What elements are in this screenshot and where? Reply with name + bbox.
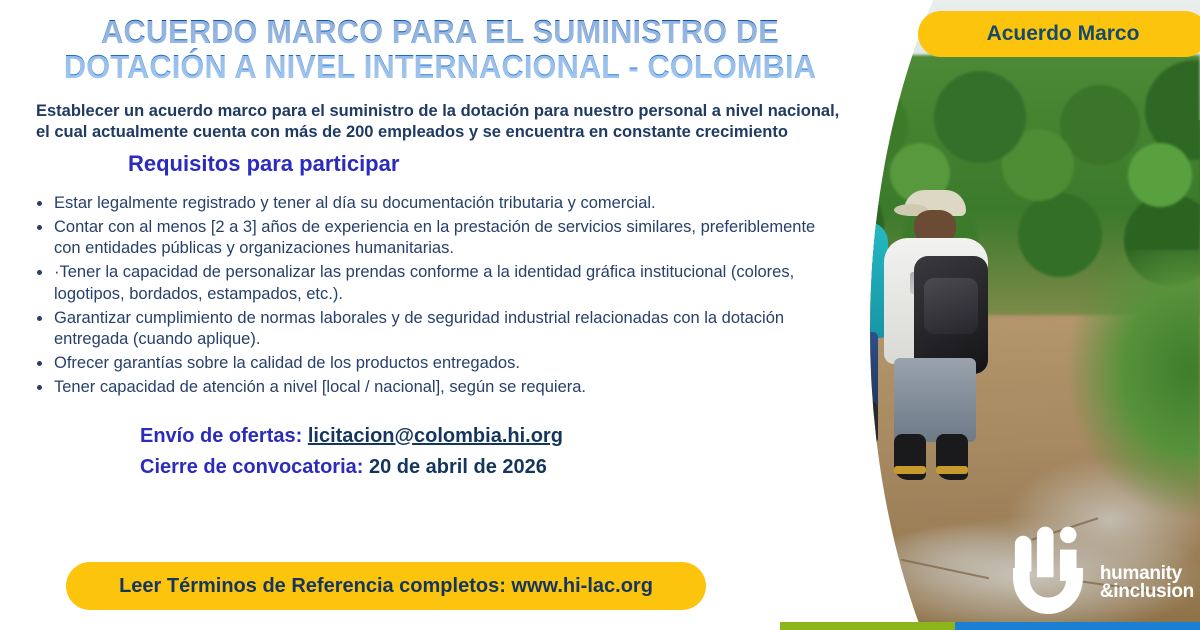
list-item: Tener capacidad de atención a nivel [loc… [30, 377, 820, 399]
list-item: Estar legalmente registrado y tener al d… [30, 193, 820, 215]
list-item-text: Garantizar cumplimiento de normas labora… [54, 309, 784, 349]
deadline-label: Cierre de convocatoria: [140, 456, 363, 478]
bullet-icon [37, 225, 42, 230]
offers-email-link[interactable]: licitacion@colombia.hi.org [308, 425, 563, 447]
list-item: Ofrecer garantías sobre la calidad de lo… [30, 353, 820, 375]
section-heading-requisitos: Requisitos para participar [128, 151, 880, 177]
page-title: ACUERDO MARCO PARA EL SUMINISTRO DE DOTA… [59, 14, 822, 85]
content-column: ACUERDO MARCO PARA EL SUMINISTRO DE DOTA… [0, 0, 880, 630]
offers-label: Envío de ofertas: [140, 425, 302, 447]
footer-strip-green [780, 622, 955, 630]
deadline-value: 20 de abril de 2026 [369, 456, 547, 478]
photo-person-with-backpack [870, 190, 1000, 480]
bullet-icon [37, 385, 42, 390]
bullet-icon [37, 316, 42, 321]
lead-paragraph: Establecer un acuerdo marco para el sumi… [36, 101, 842, 143]
list-item: Garantizar cumplimiento de normas labora… [30, 308, 820, 352]
terms-of-reference-button[interactable]: Leer Términos de Referencia completos: w… [66, 562, 706, 610]
footer-strip-blue [955, 622, 1200, 630]
contact-row-deadline: Cierre de convocatoria: 20 de abril de 2… [140, 452, 880, 483]
bullet-icon [37, 270, 42, 275]
contact-row-offers: Envío de ofertas: licitacion@colombia.hi… [140, 421, 880, 452]
list-item: ·Tener la capacidad de personalizar las … [30, 262, 820, 306]
list-item-text: Contar con al menos [2 a 3] años de expe… [54, 218, 815, 258]
requirements-list: Estar legalmente registrado y tener al d… [30, 193, 820, 399]
acuerdo-marco-badge[interactable]: Acuerdo Marco [918, 11, 1200, 57]
list-item-text: Tener capacidad de atención a nivel [loc… [54, 378, 586, 396]
hi-wordmark-line2: &inclusion [1100, 583, 1194, 602]
bullet-icon [37, 361, 42, 366]
list-item-text: Ofrecer garantías sobre la calidad de lo… [54, 354, 520, 372]
contact-block: Envío de ofertas: licitacion@colombia.hi… [140, 421, 880, 483]
hi-wordmark: humanity &inclusion [1100, 565, 1194, 616]
hi-logo: Hi humanity &inclusion [1002, 520, 1194, 616]
list-item: Contar con al menos [2 a 3] años de expe… [30, 217, 820, 261]
list-item-text: Estar legalmente registrado y tener al d… [54, 194, 656, 212]
bullet-icon [37, 201, 42, 206]
hi-hand-icon: Hi [1002, 520, 1094, 616]
list-item-text: ·Tener la capacidad de personalizar las … [54, 263, 794, 303]
